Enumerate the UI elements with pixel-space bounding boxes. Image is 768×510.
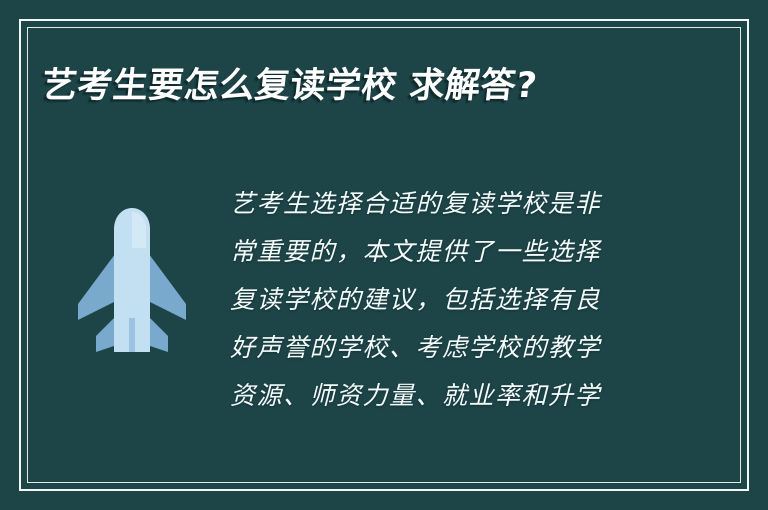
poster-card: 艺考生要怎么复读学校 求解答? 艺考生选择合适的复读学校是非: [0, 0, 768, 510]
airplane-icon: [74, 208, 190, 352]
page-title: 艺考生要怎么复读学校 求解答?: [40, 64, 725, 108]
body-line: 资源、师资力量、就业率和升学: [230, 372, 726, 420]
body-line: 艺考生选择合适的复读学校是非: [230, 180, 726, 228]
body-line: 好声誉的学校、考虑学校的教学: [230, 324, 726, 372]
body-line: 常重要的，本文提供了一些选择: [230, 228, 726, 276]
illustration-container: [42, 180, 222, 352]
body-line: 复读学校的建议，包括选择有良: [230, 276, 726, 324]
content-area: 艺考生选择合适的复读学校是非 常重要的，本文提供了一些选择 复读学校的建议，包括…: [42, 180, 726, 470]
body-copy: 艺考生选择合适的复读学校是非 常重要的，本文提供了一些选择 复读学校的建议，包括…: [222, 180, 726, 420]
